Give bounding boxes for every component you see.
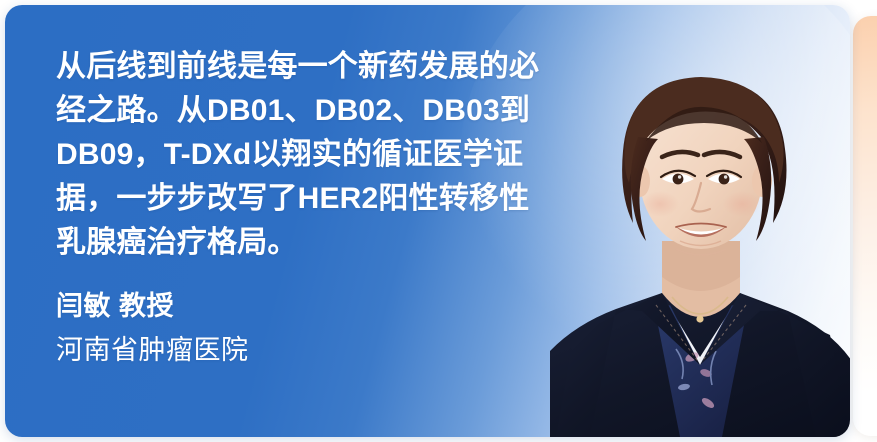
quote-card[interactable]: 从后线到前线是每一个新药发展的必 经之路。从DB01、DB02、DB03到 DB… [5,5,850,437]
quote-text: 从后线到前线是每一个新药发展的必 经之路。从DB01、DB02、DB03到 DB… [56,45,656,265]
speaker-name: 闫敏 教授 [56,287,656,325]
quote-line: 乳腺癌治疗格局。 [56,221,656,265]
speaker-attribution: 闫敏 教授 河南省肿瘤医院 [56,287,656,369]
quote-content: 从后线到前线是每一个新药发展的必 经之路。从DB01、DB02、DB03到 DB… [56,45,656,369]
quote-line: 据，一步步改写了HER2阳性转移性 [56,177,656,221]
quote-line: DB09，T-DXd以翔实的循证医学证 [56,133,656,177]
next-card-peek[interactable] [853,16,877,436]
slide-canvas: 从后线到前线是每一个新药发展的必 经之路。从DB01、DB02、DB03到 DB… [0,0,877,442]
quote-line: 从后线到前线是每一个新药发展的必 [56,45,656,89]
quote-line: 经之路。从DB01、DB02、DB03到 [56,89,656,133]
speaker-organization: 河南省肿瘤医院 [56,331,656,369]
